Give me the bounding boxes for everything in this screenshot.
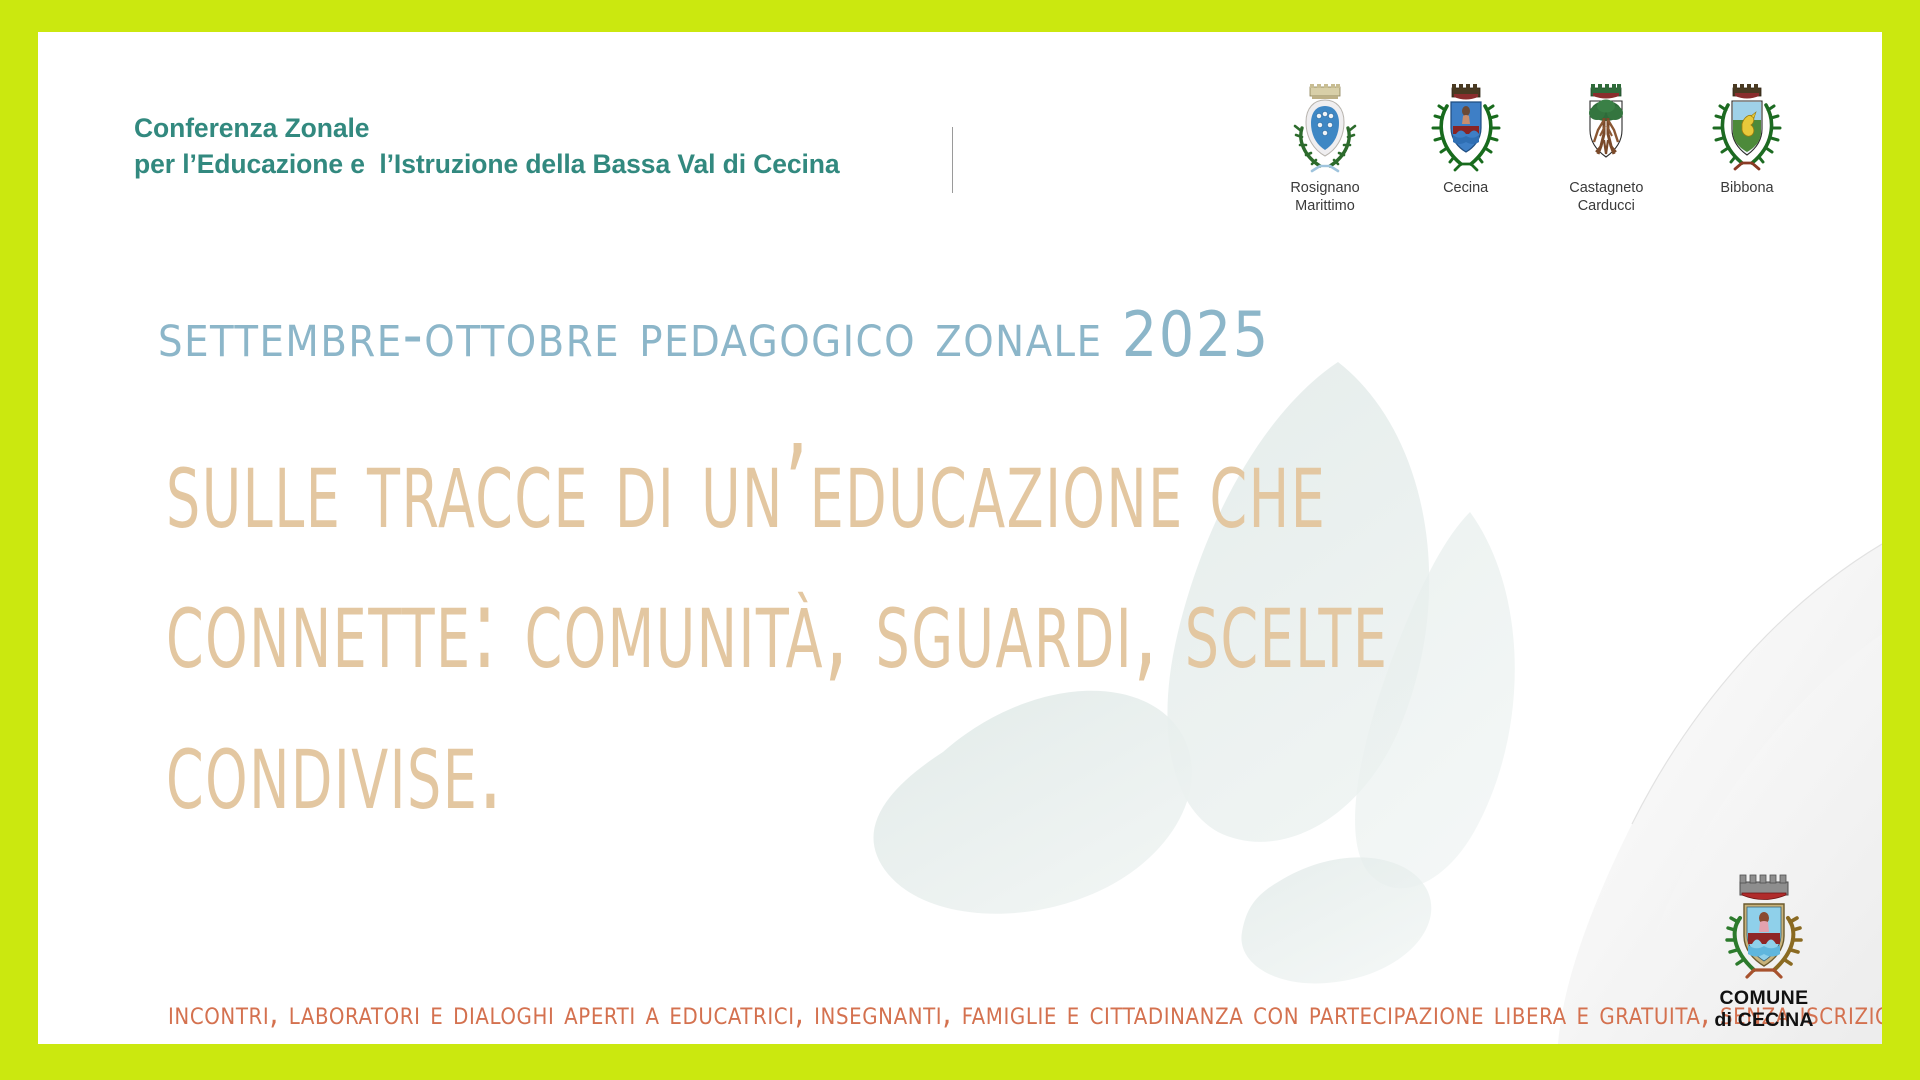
subtitle: Settembre-ottobre pedagogico zonale 2025 [158, 304, 1270, 366]
emblem-rosignano-marittimo: Rosignano Marittimo [1266, 80, 1384, 215]
title-line-1: Sulle tracce di un’educazione che [166, 418, 1388, 558]
subtitle-text: Settembre-ottobre pedagogico zonale 2025 [158, 298, 1270, 371]
title-line-2: connette: comunità, sguardi, scelte [166, 558, 1388, 698]
emblem-label: Cecina [1443, 180, 1488, 198]
municipality-emblem-row: Rosignano Marittimo [1266, 80, 1806, 215]
header-line-2: per l’Educazione e l’Istruzione della Ba… [134, 146, 840, 182]
coat-of-arms-castagneto-carducci-icon [1563, 80, 1649, 176]
caption-text: Incontri, laboratori e dialoghi aperti a… [168, 994, 1882, 1032]
coat-of-arms-cecina-icon [1423, 80, 1509, 176]
header-vertical-divider [952, 127, 953, 193]
poster-card: Conferenza Zonale per l’Educazione e l’I… [38, 32, 1882, 1044]
comune-logo-line-2: di CECINA [1714, 1010, 1813, 1032]
emblem-label: Castagneto Carducci [1569, 180, 1643, 215]
emblem-label: Rosignano Marittimo [1290, 180, 1359, 215]
event-caption: Incontri, laboratori e dialoghi aperti a… [168, 997, 1882, 1029]
emblem-label: Bibbona [1720, 180, 1773, 198]
coat-of-arms-bibbona-icon [1704, 80, 1790, 176]
poster-slide: Conferenza Zonale per l’Educazione e l’I… [0, 0, 1920, 1080]
emblem-bibbona: Bibbona [1688, 80, 1806, 198]
conference-header: Conferenza Zonale per l’Educazione e l’I… [134, 110, 840, 183]
header-line-1: Conferenza Zonale [134, 110, 840, 146]
coat-of-arms-comune-di-cecina-icon [1710, 870, 1818, 988]
emblem-castagneto-carducci: Castagneto Carducci [1547, 80, 1665, 215]
title-line-3: condivise. [166, 699, 1388, 839]
comune-logo-line-1: COMUNE [1719, 988, 1808, 1010]
emblem-cecina: Cecina [1407, 80, 1525, 198]
coat-of-arms-rosignano-marittimo-icon [1282, 80, 1368, 176]
page-title: Sulle tracce di un’educazione che connet… [166, 418, 1818, 839]
comune-di-cecina-logo: COMUNE di CECINA [1698, 870, 1830, 1032]
